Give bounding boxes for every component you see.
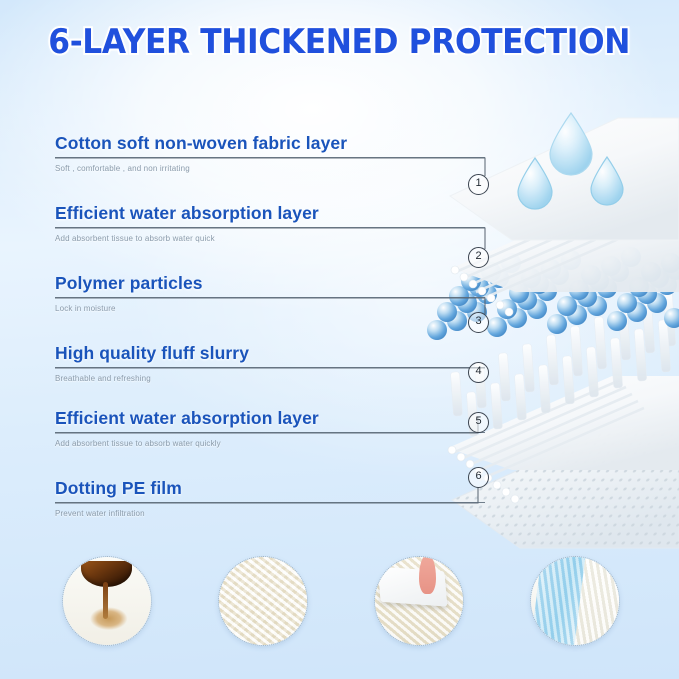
layer-label-2: Efficient water absorption layer Add abs… bbox=[55, 203, 485, 243]
liquid-absorption-photo bbox=[62, 556, 152, 646]
layer-rule-2 bbox=[55, 227, 485, 228]
layer-rule-6 bbox=[55, 502, 485, 503]
layer-heading-1: Cotton soft non-woven fabric layer bbox=[55, 133, 485, 154]
pressure-test-image bbox=[375, 557, 463, 645]
layer-subtitle-2: Add absorbent tissue to absorb water qui… bbox=[55, 234, 485, 243]
layer-subtitle-6: Prevent water infiltration bbox=[55, 509, 485, 518]
layer-label-5: Efficient water absorption layer Add abs… bbox=[55, 408, 485, 448]
layer-heading-4: High quality fluff slurry bbox=[55, 343, 485, 364]
layer-rule-4 bbox=[55, 367, 485, 368]
layer-heading-5: Efficient water absorption layer bbox=[55, 408, 485, 429]
layer-rule-3 bbox=[55, 297, 485, 298]
product-photo-row bbox=[0, 556, 679, 656]
layer-rule-5 bbox=[55, 432, 485, 433]
finger-shape bbox=[419, 556, 436, 594]
layer-rule-1 bbox=[55, 157, 485, 158]
layer-subtitle-4: Breathable and refreshing bbox=[55, 374, 485, 383]
layer-heading-3: Polymer particles bbox=[55, 273, 485, 294]
layer-fold-image bbox=[531, 557, 619, 645]
layer-label-1: Cotton soft non-woven fabric layer Soft … bbox=[55, 133, 485, 173]
layer-subtitle-1: Soft , comfortable , and non irritating bbox=[55, 164, 485, 173]
layer-label-4: High quality fluff slurry Breathable and… bbox=[55, 343, 485, 383]
layer-subtitle-3: Lock in moisture bbox=[55, 304, 485, 313]
infographic-canvas: 6-LAYER THICKENED PROTECTION Cotton soft… bbox=[0, 0, 679, 679]
layer-subtitle-5: Add absorbent tissue to absorb water qui… bbox=[55, 439, 485, 448]
fluff-surface-image bbox=[219, 557, 307, 645]
layer-heading-2: Efficient water absorption layer bbox=[55, 203, 485, 224]
layer-label-3: Polymer particles Lock in moisture bbox=[55, 273, 485, 313]
layer-fold-photo bbox=[530, 556, 620, 646]
layer-heading-6: Dotting PE film bbox=[55, 478, 485, 499]
liquid-absorption-image bbox=[63, 557, 151, 645]
layer-label-6: Dotting PE film Prevent water infiltrati… bbox=[55, 478, 485, 518]
pressure-test-photo bbox=[374, 556, 464, 646]
white-block-shape bbox=[377, 567, 447, 607]
fluff-surface-photo bbox=[218, 556, 308, 646]
